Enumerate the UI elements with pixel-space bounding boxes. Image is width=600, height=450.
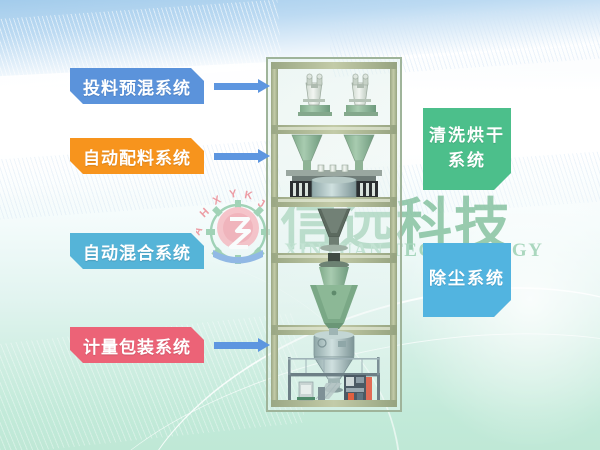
diagram-canvas: A H X Y K J 信远科技 XINYUAN TECHNOLOGY	[0, 0, 600, 450]
label-feeding-premix-text: 投料预混系统	[83, 74, 191, 99]
folded-corner	[494, 300, 511, 317]
arrow-head	[258, 149, 270, 163]
level4-mixer	[310, 253, 358, 329]
level3-transfer	[318, 209, 350, 251]
label-dust-removal[interactable]: 除尘系统	[423, 243, 511, 317]
svg-text:Y: Y	[229, 188, 239, 201]
level2-batching	[286, 135, 382, 197]
arrow-head	[258, 338, 270, 352]
sky-band-back	[0, 0, 600, 45]
arrow-weighing-packaging	[214, 338, 270, 352]
arrow-shaft	[214, 153, 259, 160]
tower-machinery	[266, 57, 402, 412]
label-feeding-premix[interactable]: 投料预混系统	[70, 68, 204, 104]
svg-text:J: J	[256, 197, 267, 210]
svg-text:X: X	[211, 193, 223, 207]
label-cleaning-drying[interactable]: 清洗烘干 系统	[423, 108, 511, 190]
label-auto-mixing-text: 自动混合系统	[83, 239, 191, 264]
label-cleaning-drying-line2: 系统	[448, 149, 486, 175]
arrow-feeding-premix	[214, 79, 270, 93]
level5-packaging	[288, 328, 380, 400]
svg-text:K: K	[243, 189, 253, 202]
svg-text:H: H	[198, 206, 212, 220]
label-auto-batching-text: 自动配料系统	[83, 144, 191, 169]
label-dust-removal-line1: 除尘系统	[429, 267, 505, 293]
svg-text:A: A	[196, 225, 205, 238]
label-weighing-packaging-text: 计量包装系统	[83, 333, 191, 358]
arrow-head	[258, 79, 270, 93]
level1-feeders	[298, 74, 378, 116]
label-auto-mixing[interactable]: 自动混合系统	[70, 233, 204, 269]
arrow-auto-batching	[214, 149, 270, 163]
arrow-shaft	[214, 83, 259, 90]
arrow-shaft	[214, 342, 259, 349]
production-tower-illustration	[266, 57, 402, 412]
label-cleaning-drying-line1: 清洗烘干	[429, 124, 505, 150]
folded-corner	[494, 173, 511, 190]
label-auto-batching[interactable]: 自动配料系统	[70, 138, 204, 174]
label-weighing-packaging[interactable]: 计量包装系统	[70, 327, 204, 363]
